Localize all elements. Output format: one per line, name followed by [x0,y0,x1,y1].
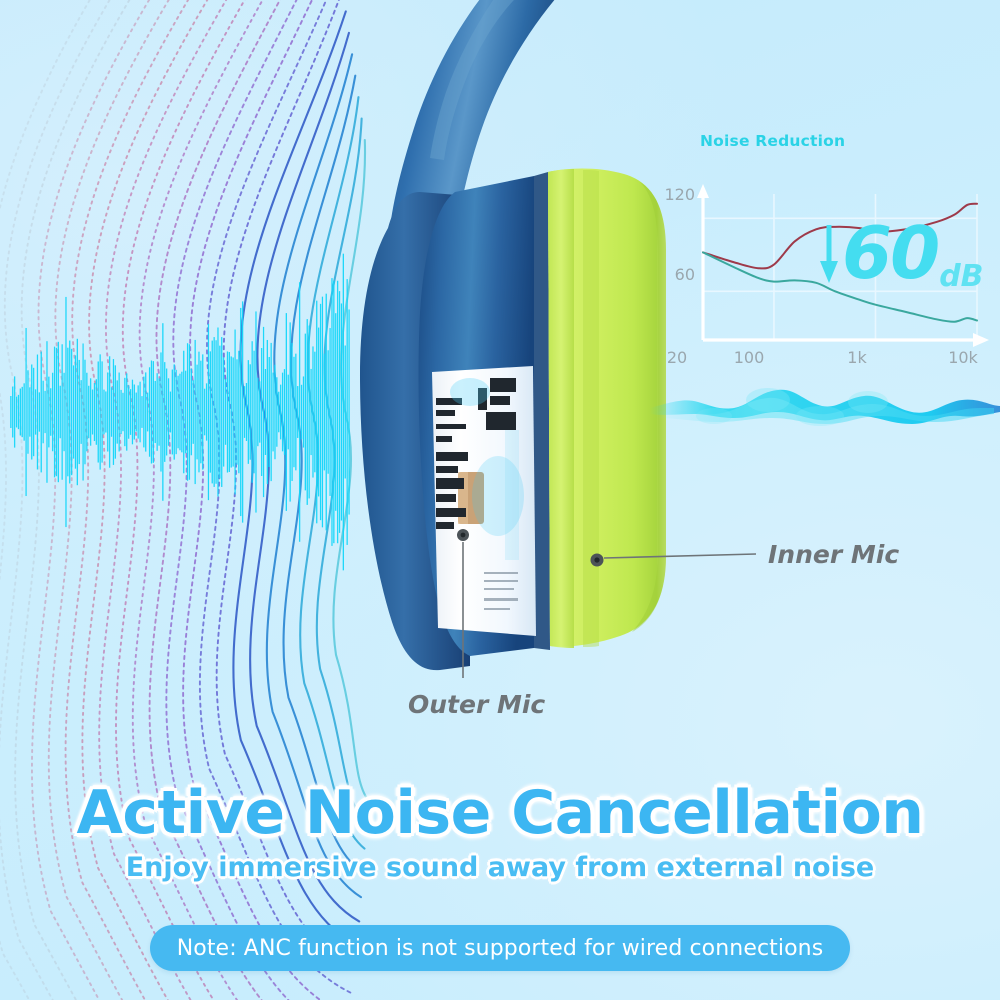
db-value: 60 [842,224,938,283]
ear-pad-crease-2 [583,170,599,647]
page-subtitle: Enjoy immersive sound away from external… [0,852,1000,883]
ear-pad-crease [548,169,574,648]
note-text: Note: ANC function is not supported for … [177,936,824,961]
down-arrow-icon [818,223,840,285]
callout-label-inner-mic: Inner Mic [768,540,899,569]
x-tick-label: 100 [723,348,775,367]
noise-reduction-annotation: 60 dB [818,208,993,300]
y-tick-label: 120 [653,185,695,204]
y-tick-label: 60 [653,265,695,284]
x-tick-label: 10k [937,348,989,367]
headline-block: Active Noise Cancellation Enjoy immersiv… [0,782,1000,883]
db-unit: dB [939,259,983,294]
product-marketing-image: Noise Reduction 120 60 20 100 1k 10k 60 … [0,0,1000,1000]
page-title: Active Noise Cancellation [0,782,1000,844]
x-tick-label: 20 [651,348,703,367]
callout-label-outer-mic: Outer Mic [408,690,545,719]
earcup-seam [534,172,550,650]
earcup-cutaway [425,360,545,645]
cyan-wave-ribbon [650,372,1000,438]
note-banner: Note: ANC function is not supported for … [150,925,850,971]
x-tick-label: 1k [831,348,883,367]
chart-title: Noise Reduction [700,132,845,150]
